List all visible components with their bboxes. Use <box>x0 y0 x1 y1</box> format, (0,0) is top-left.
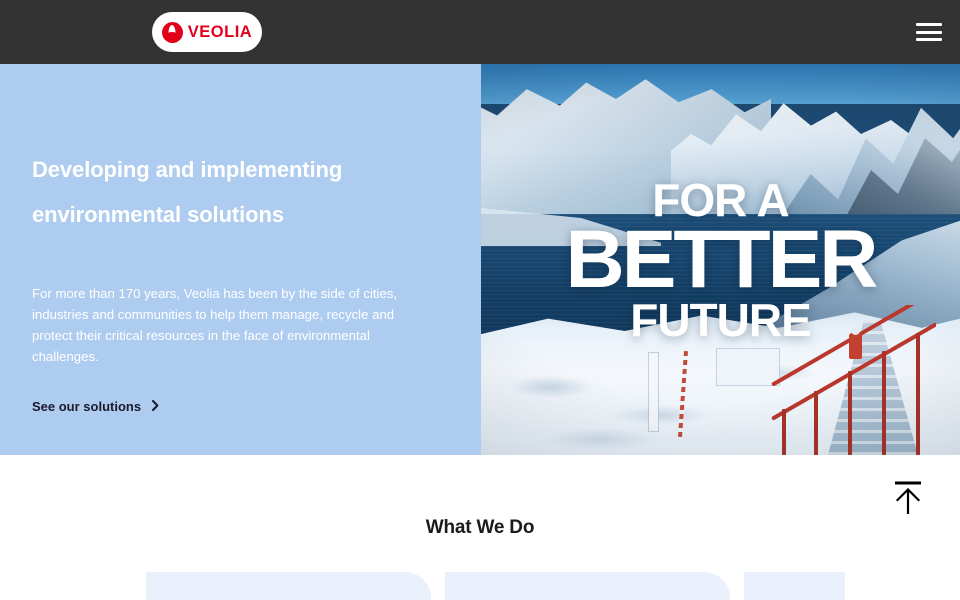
hero-title: Developing and implementing environmenta… <box>32 147 402 237</box>
site-header: VEOLIA <box>0 0 960 64</box>
veolia-wordmark: VEOLIA <box>188 24 252 41</box>
scroll-to-top-button[interactable] <box>876 465 940 531</box>
what-we-do-card-3[interactable] <box>744 572 845 600</box>
what-we-do-card-row <box>0 572 960 600</box>
hero-text-panel: Developing and implementing environmenta… <box>0 64 481 455</box>
hamburger-menu-icon[interactable] <box>916 20 942 44</box>
see-our-solutions-link[interactable]: See our solutions <box>32 399 159 414</box>
what-we-do-card-2[interactable] <box>445 572 730 600</box>
photo-vignette <box>481 64 960 455</box>
hamburger-bar-1 <box>916 23 942 26</box>
arrow-up-to-line-icon <box>890 479 926 517</box>
what-we-do-section: What We Do <box>0 455 960 600</box>
hero-section: Developing and implementing environmenta… <box>0 64 960 455</box>
hamburger-bar-3 <box>916 38 942 41</box>
see-our-solutions-label: See our solutions <box>32 399 141 414</box>
veolia-droplet-icon <box>162 22 183 43</box>
hero-body-text: For more than 170 years, Veolia has been… <box>32 283 410 367</box>
hamburger-bar-2 <box>916 31 942 34</box>
veolia-logo[interactable]: VEOLIA <box>152 12 262 52</box>
hero-background-image: FOR A BETTER FUTURE <box>481 64 960 455</box>
chevron-right-icon <box>152 400 159 413</box>
what-we-do-title: What We Do <box>0 517 960 539</box>
what-we-do-card-1[interactable] <box>146 572 431 600</box>
